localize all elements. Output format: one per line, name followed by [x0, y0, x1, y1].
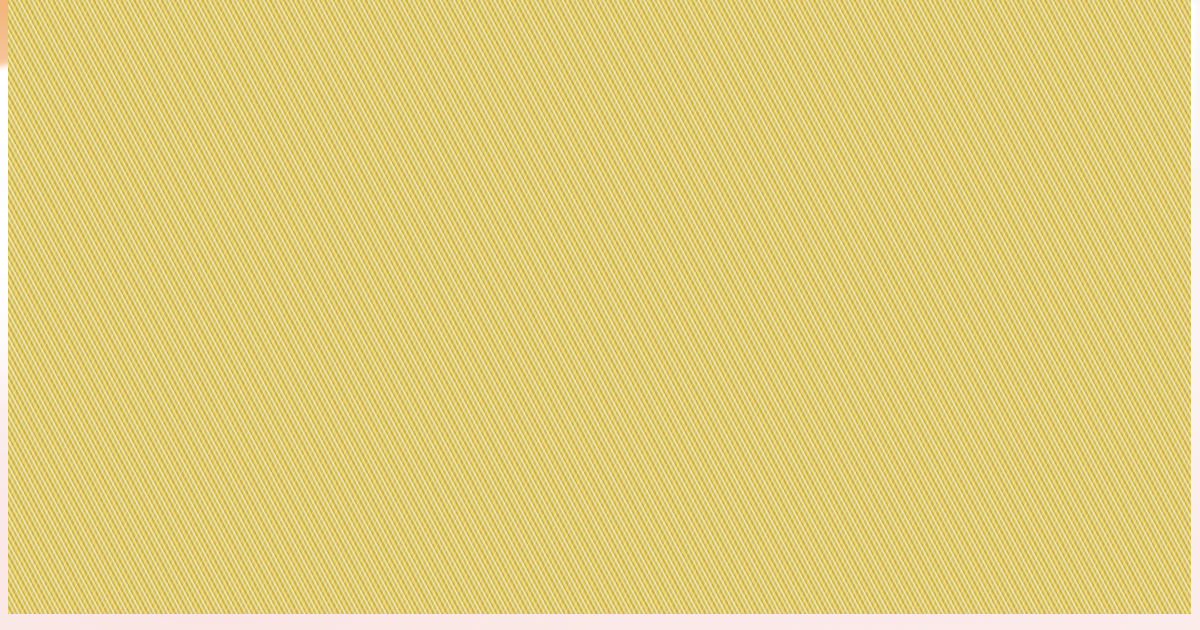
speaker-name: Jan Rafaj [100, 213, 191, 236]
venue-address: Na Františku 32, 110 15, Prague 1 [439, 0, 762, 26]
list-item: Presentations on smart transport, smart … [644, 153, 1170, 210]
speakers-badge-label: SPEAKERS : [216, 91, 361, 118]
list-item: David Surý, Senior Director of the Prote… [70, 327, 570, 413]
list-item: David Müller, Director General at the EU… [70, 269, 570, 326]
speaker-name: David Müller [100, 271, 222, 294]
presentation-panel: Presentations on smart transport, smart … [632, 143, 1182, 348]
triangle-right-icon [77, 278, 89, 294]
clipped-text-above: j [497, 0, 509, 3]
speaker-name: Raveesh Kumar, [100, 155, 260, 178]
list-item: Raveesh Kumar, Ambassador of India to th… [70, 153, 570, 210]
triangle-right-icon [77, 336, 89, 352]
list-item: Presentation on legal and tax framework … [644, 210, 1170, 239]
presentation-list: Presentations on smart transport, smart … [632, 143, 1182, 267]
speakers-list: Raveesh Kumar, Ambassador of India to th… [58, 143, 582, 413]
qr-code-icon [630, 388, 832, 592]
triangle-right-icon [651, 219, 663, 235]
presentation-item-text: Experience of investing in India by a Cz… [674, 241, 1155, 264]
dome-pebble-icon [1085, 592, 1109, 604]
presentation-item-text: Presentations on smart transport, smart … [674, 155, 1147, 207]
flying-birds-icon [555, 440, 611, 502]
qr-code[interactable] [630, 388, 832, 592]
speakers-section-badge: SPEAKERS : [194, 84, 383, 124]
presentation-badge-label: PRESENTATION : [755, 91, 951, 118]
list-item: Jan Rafaj, President of the Confederatio… [70, 211, 570, 268]
presentation-item-text: Presentation on legal and tax framework … [674, 212, 1113, 235]
triangle-right-icon [77, 220, 89, 236]
prague-skyline-art [17, 394, 1183, 614]
presentation-section-badge: PRESENTATION : [733, 84, 973, 124]
triangle-right-icon [77, 162, 89, 178]
event-poster: j Na Františku 32, 110 15, Prague 1 SPEA… [0, 0, 1200, 630]
address-strip: j Na Františku 32, 110 15, Prague 1 [0, 0, 1200, 30]
speakers-panel: Raveesh Kumar, Ambassador of India to th… [58, 143, 582, 416]
speaker-name: David Surý [100, 329, 207, 352]
triangle-right-icon [651, 162, 663, 178]
list-item: Experience of investing in India by a Cz… [644, 239, 1170, 268]
triangle-right-icon [651, 248, 663, 264]
skyline-icon [17, 394, 1183, 614]
